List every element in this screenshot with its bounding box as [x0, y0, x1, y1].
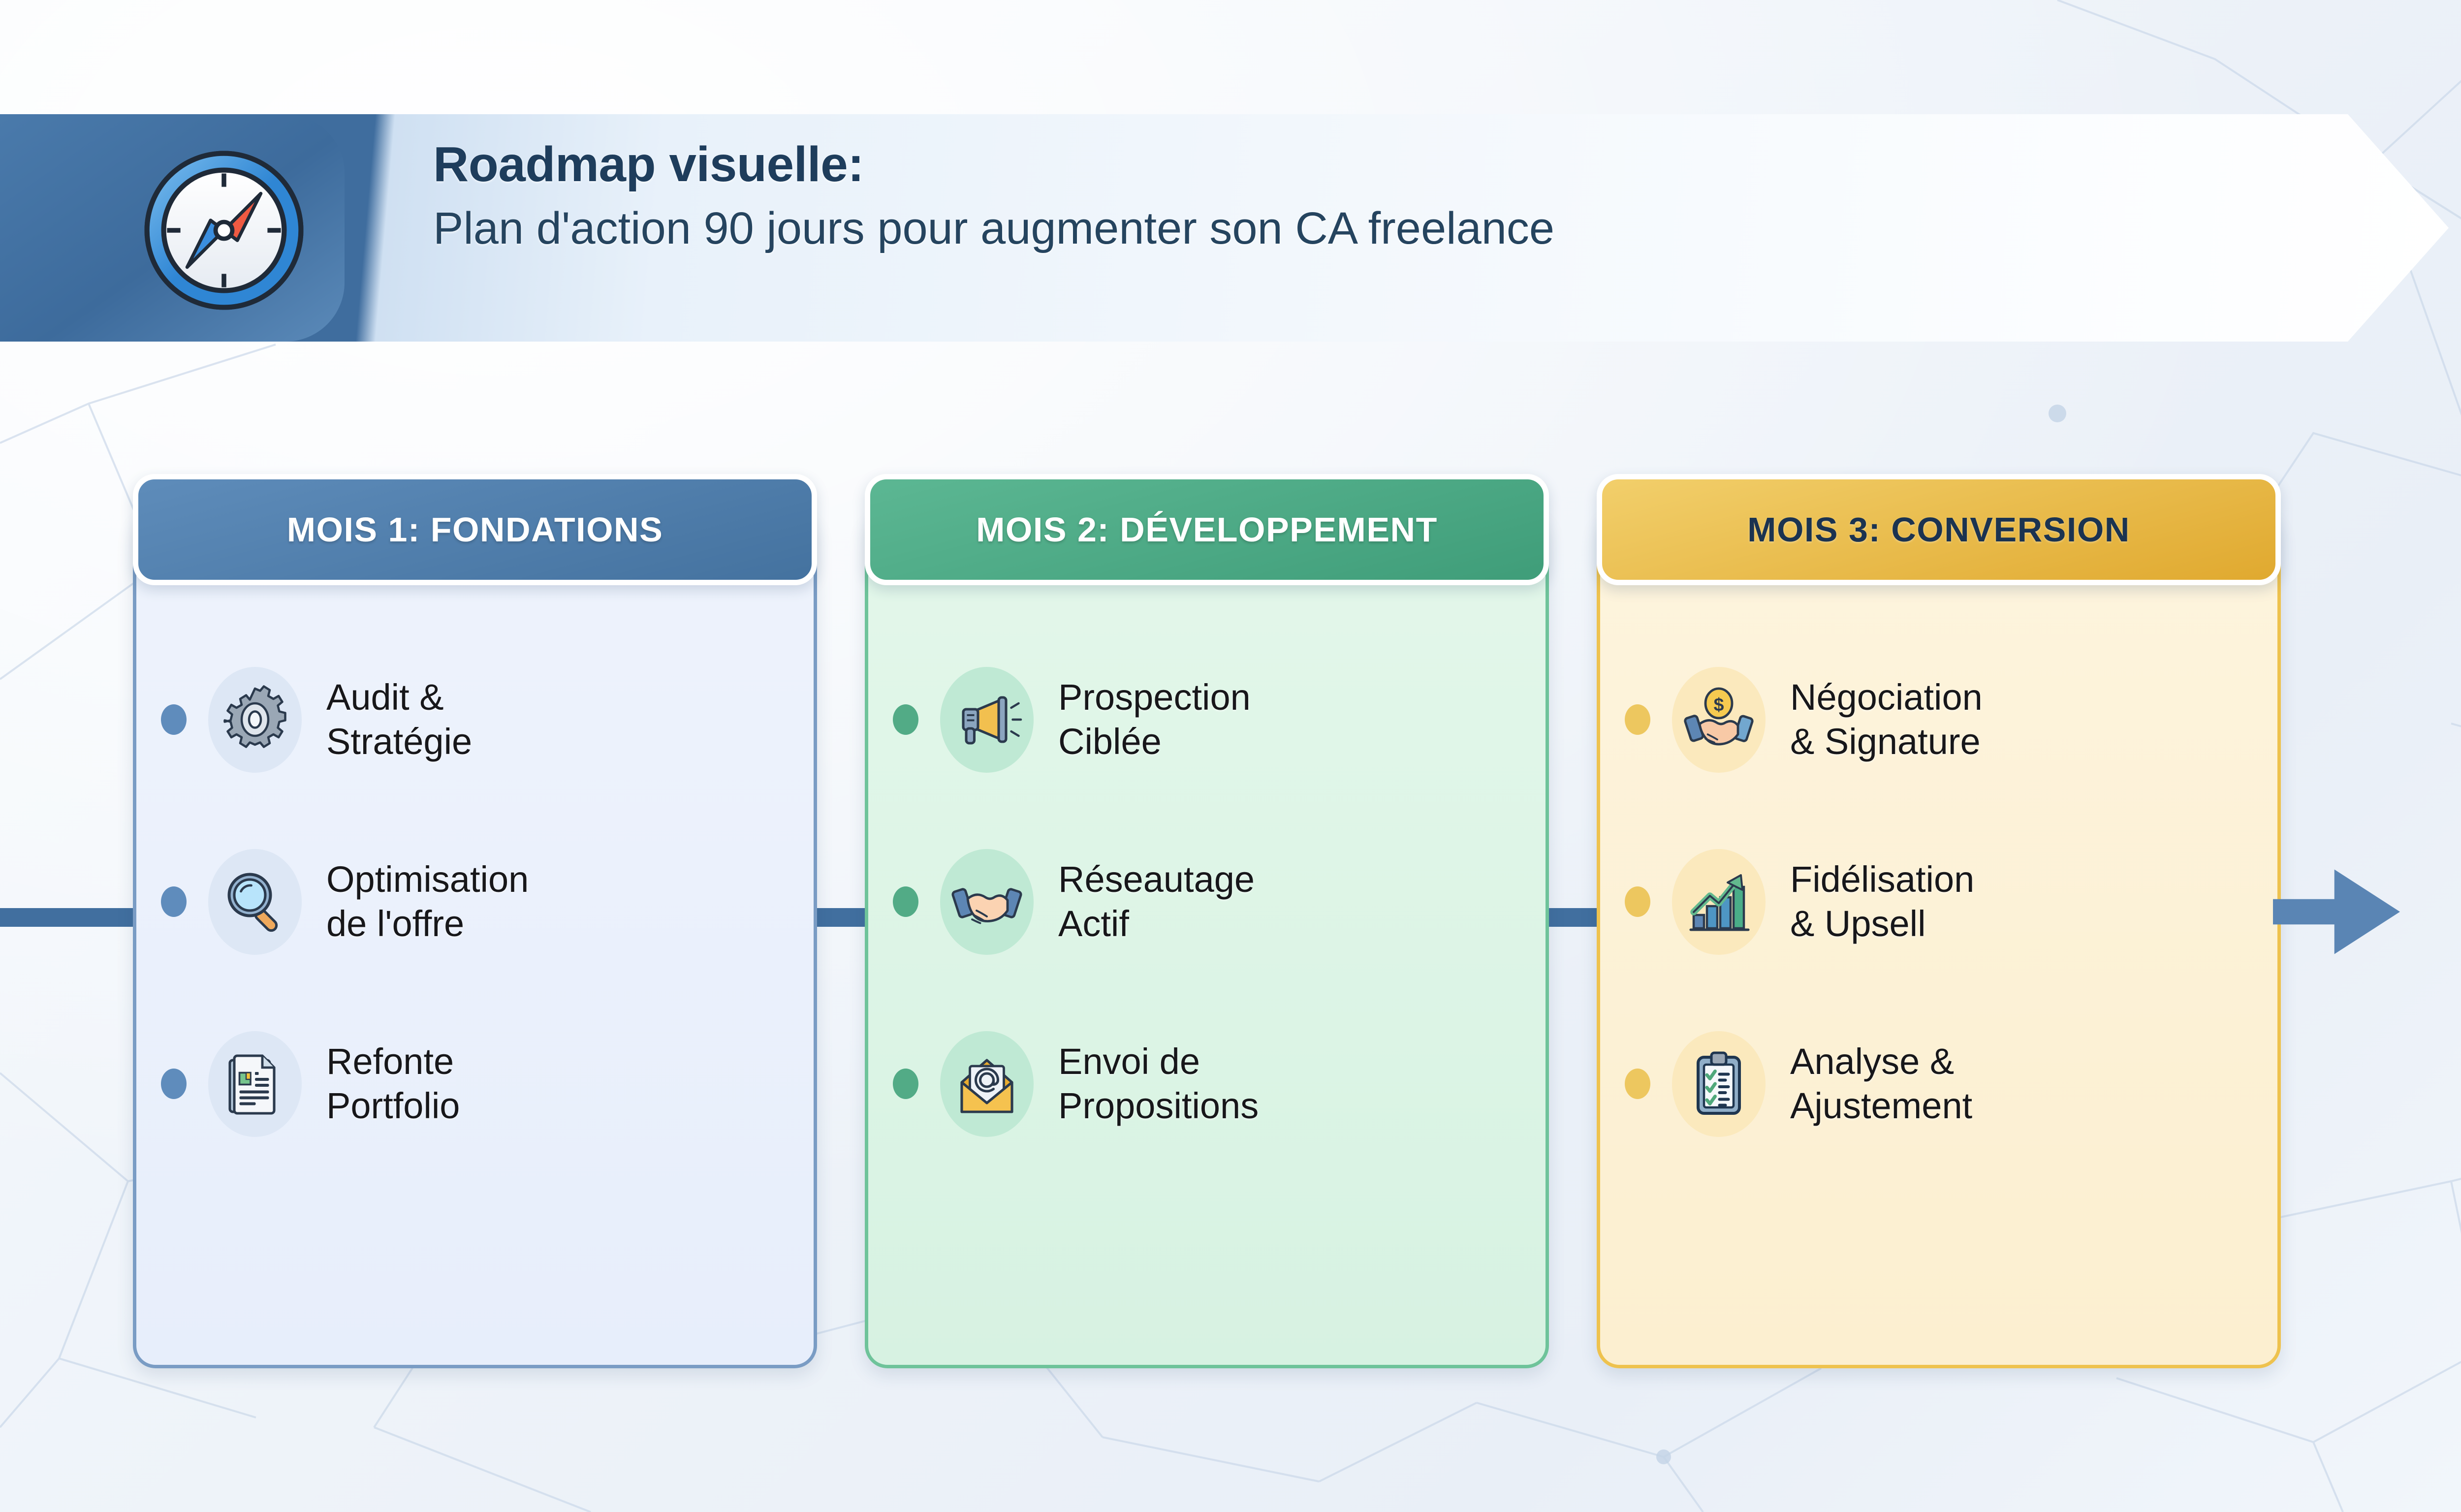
list-item-label: ProspectionCiblée — [1058, 675, 1251, 764]
page-subtitle: Plan d'action 90 jours pour augmenter so… — [433, 202, 2205, 255]
handshake-coin-icon: $ — [1672, 667, 1766, 773]
list-item[interactable]: $ Négociation& Signature — [1600, 629, 2277, 811]
month-1-header: MOIS 1: FONDATIONS — [133, 474, 817, 585]
envelope-at-icon — [940, 1031, 1034, 1137]
right-arrow-icon — [2273, 859, 2400, 965]
timeline-spine-seg-1 — [807, 908, 874, 927]
objective-block: OBJECTIFCA ATTEINT — [2412, 733, 2461, 1018]
month-2-header: MOIS 2: DÉVELOPPEMENT — [865, 474, 1549, 585]
list-item-label: RefontePortfolio — [326, 1039, 460, 1129]
compass-icon — [140, 147, 308, 314]
list-item-label: Optimisationde l'offre — [326, 857, 529, 946]
month-column-1[interactable]: MOIS 1: FONDATIONS Audit &Stratégie — [133, 512, 817, 1368]
gear-icon — [208, 667, 302, 773]
bullet-dot-icon — [1625, 704, 1650, 735]
bullet-dot-icon — [161, 1069, 187, 1099]
list-item-label: Analyse &Ajustement — [1790, 1039, 1972, 1129]
bullet-dot-icon — [161, 704, 187, 735]
list-item-label: RéseautageActif — [1058, 857, 1255, 946]
month-2-items: ProspectionCiblée RéseautageActif — [868, 629, 1546, 1175]
month-2-header-label: MOIS 2: DÉVELOPPEMENT — [976, 510, 1438, 549]
list-item-label: Envoi dePropositions — [1058, 1039, 1259, 1129]
header-text-group: Roadmap visuelle: Plan d'action 90 jours… — [433, 137, 2205, 255]
month-3-items: $ Négociation& Signature — [1600, 629, 2277, 1175]
list-item-label: Audit &Stratégie — [326, 675, 472, 764]
list-item[interactable]: ProspectionCiblée — [868, 629, 1546, 811]
handshake-icon — [940, 849, 1034, 955]
list-item-label: Fidélisation& Upsell — [1790, 857, 1974, 946]
list-item[interactable]: Audit &Stratégie — [136, 629, 814, 811]
megaphone-icon — [940, 667, 1034, 773]
timeline-spine-seg-2 — [1540, 908, 1606, 927]
bullet-dot-icon — [1625, 1069, 1650, 1099]
list-item[interactable]: Fidélisation& Upsell — [1600, 811, 2277, 993]
document-icon — [208, 1031, 302, 1137]
month-column-3[interactable]: MOIS 3: CONVERSION $ Négociation& Signat… — [1597, 512, 2281, 1368]
bullet-dot-icon — [893, 704, 918, 735]
list-item-label: Négociation& Signature — [1790, 675, 1983, 764]
page-title: Roadmap visuelle: — [433, 137, 2205, 192]
list-item[interactable]: RéseautageActif — [868, 811, 1546, 993]
month-3-header: MOIS 3: CONVERSION — [1597, 474, 2281, 585]
list-item[interactable]: RefontePortfolio — [136, 993, 814, 1175]
bullet-dot-icon — [1625, 886, 1650, 917]
list-item[interactable]: Optimisationde l'offre — [136, 811, 814, 993]
month-3-header-label: MOIS 3: CONVERSION — [1747, 510, 2130, 549]
clipboard-check-icon — [1672, 1031, 1766, 1137]
timeline-spine-left — [0, 908, 140, 927]
bullet-dot-icon — [893, 886, 918, 917]
list-item[interactable]: Analyse &Ajustement — [1600, 993, 2277, 1175]
month-1-header-label: MOIS 1: FONDATIONS — [287, 510, 663, 549]
svg-text:$: $ — [1714, 694, 1724, 715]
list-item[interactable]: Envoi dePropositions — [868, 993, 1546, 1175]
month-1-items: Audit &Stratégie Optimisationde l'offre — [136, 629, 814, 1175]
magnifier-icon — [208, 849, 302, 955]
bullet-dot-icon — [893, 1069, 918, 1099]
objective-label: OBJECTIFCA ATTEINT — [2412, 935, 2461, 1018]
growth-chart-icon — [1672, 849, 1766, 955]
bullet-dot-icon — [161, 886, 187, 917]
month-column-2[interactable]: MOIS 2: DÉVELOPPEMENT Prospe — [865, 512, 1549, 1368]
